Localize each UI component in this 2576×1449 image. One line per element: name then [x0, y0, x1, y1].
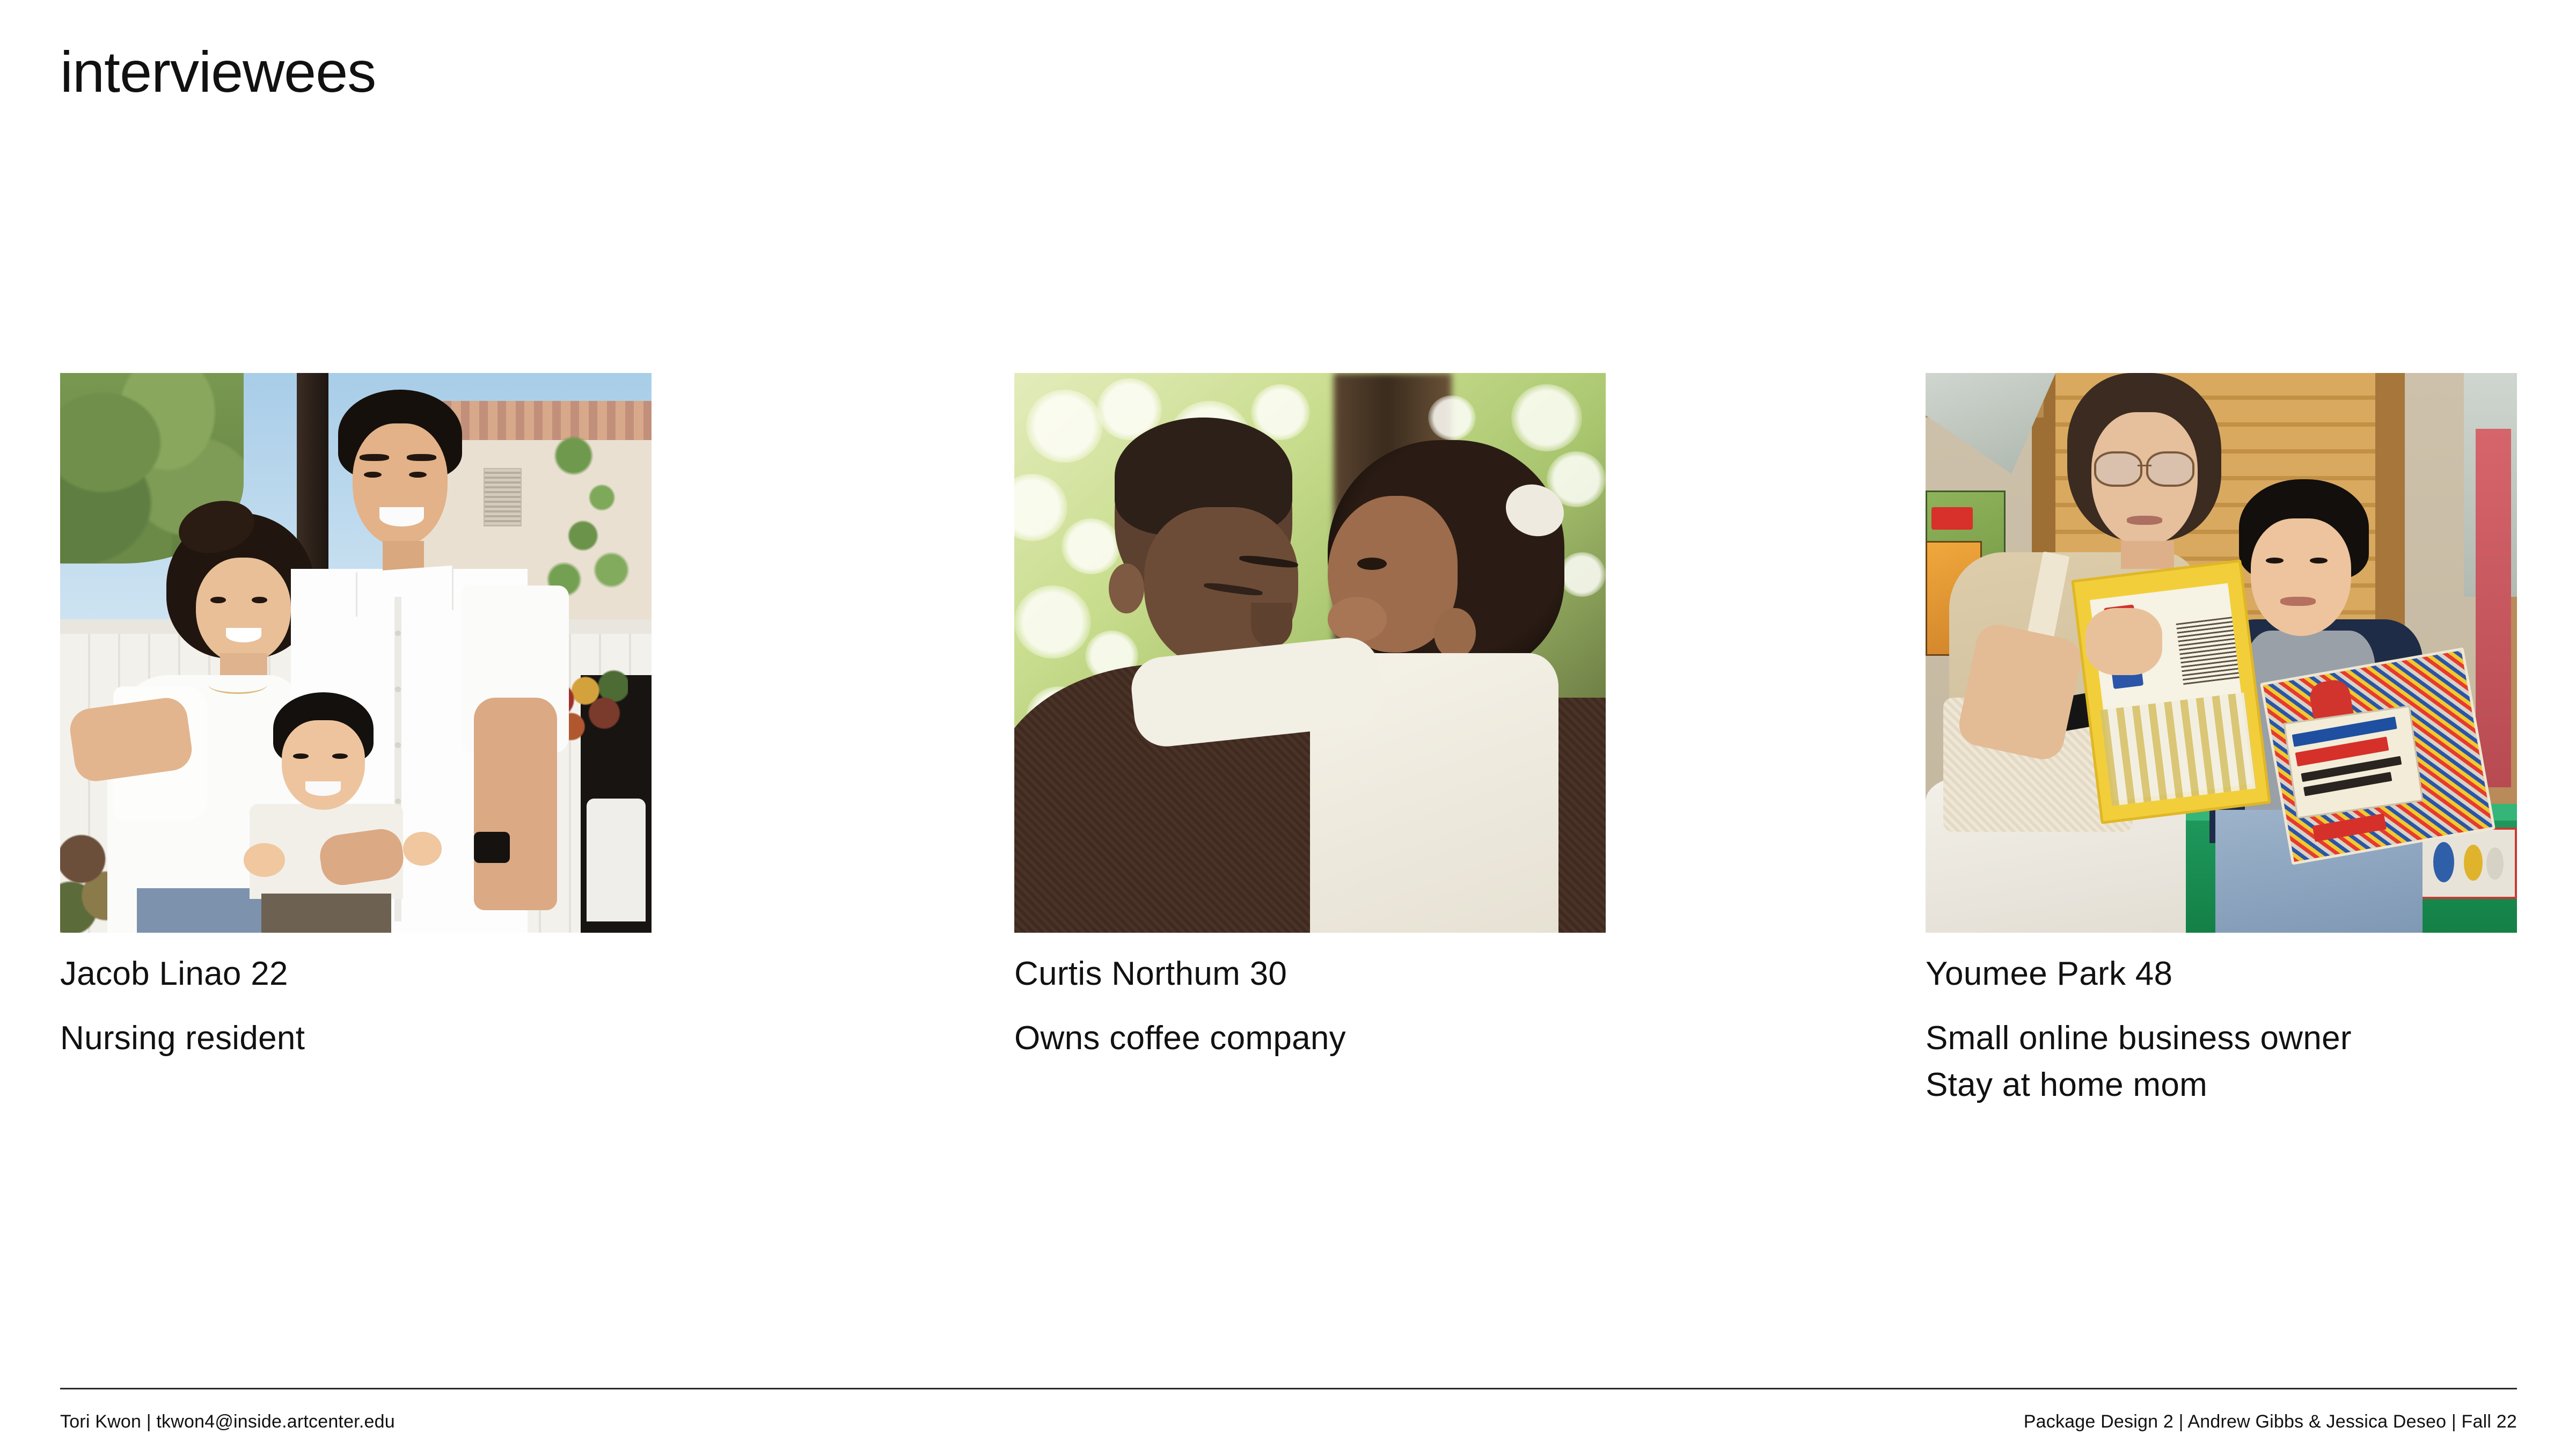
interviewee-role-line: Owns coffee company — [1014, 1015, 1606, 1062]
interviewee-role-line: Stay at home mom — [1926, 1062, 2517, 1109]
interviewee-role-1: Nursing resident — [60, 1015, 652, 1062]
interviewee-role-line: Nursing resident — [60, 1015, 652, 1062]
footer-divider — [60, 1388, 2517, 1389]
interviewee-role-line: Small online business owner — [1926, 1015, 2517, 1062]
interviewee-role-3: Small online business owner Stay at home… — [1926, 1015, 2517, 1109]
interviewee-name-age-1: Jacob Linao 22 — [60, 957, 652, 991]
footer-course: Package Design 2 | Andrew Gibbs & Jessic… — [2024, 1411, 2517, 1432]
interviewee-name-age-3: Youmee Park 48 — [1926, 957, 2517, 991]
interviewee-card-2: Curtis Northum 30 Owns coffee company — [1014, 373, 1606, 1062]
interviewee-name-age-2: Curtis Northum 30 — [1014, 957, 1606, 991]
interviewee-card-3: Youmee Park 48 Small online business own… — [1926, 373, 2517, 1109]
interviewee-card-1: Jacob Linao 22 Nursing resident — [60, 373, 652, 1062]
interviewee-role-2: Owns coffee company — [1014, 1015, 1606, 1062]
page-title: interviewees — [60, 43, 376, 101]
footer-author: Tori Kwon | tkwon4@inside.artcenter.edu — [60, 1411, 395, 1432]
interviewee-photo-2 — [1014, 373, 1606, 933]
interviewee-photo-3 — [1926, 373, 2517, 933]
interviewee-photo-1 — [60, 373, 652, 933]
interviewee-grid: Jacob Linao 22 Nursing resident — [60, 373, 2517, 1124]
